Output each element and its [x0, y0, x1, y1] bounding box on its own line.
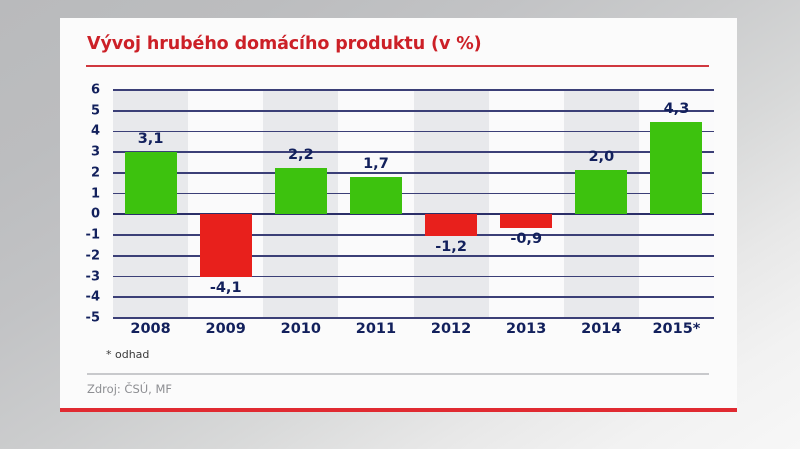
bar[interactable]: [275, 168, 327, 215]
x-tick-label: 2010: [263, 321, 338, 347]
x-tick-label: 2015*: [639, 321, 714, 347]
bar-slot: 3,1: [113, 90, 188, 318]
y-tick-label: -2: [86, 248, 100, 263]
bar[interactable]: [125, 152, 177, 214]
bar-value-label: 4,3: [664, 101, 690, 117]
bar-slot: 2,0: [564, 90, 639, 318]
bar-value-label: 1,7: [363, 156, 389, 172]
y-tick-label: -4: [86, 290, 100, 305]
bar[interactable]: [200, 214, 252, 276]
plot-area: 3,1-4,12,21,7-1,2-0,92,04,3: [113, 90, 714, 318]
bar-slot: -4,1: [188, 90, 263, 318]
x-tick-label: 2009: [188, 321, 263, 347]
bar-slot: 2,2: [263, 90, 338, 318]
chart-figure: 6543210-1-2-3-4-5 3,1-4,12,21,7-1,2-0,92…: [60, 18, 737, 410]
slide-card: Vývoj hrubého domácího produktu (v %) 65…: [60, 18, 737, 410]
bar-slot: -0,9: [489, 90, 564, 318]
source-divider: [87, 373, 709, 375]
y-tick-label: 1: [91, 186, 100, 201]
bar[interactable]: [425, 214, 477, 236]
bar-value-label: 2,0: [588, 149, 614, 165]
bar-value-label: -0,9: [510, 231, 542, 247]
y-axis: 6543210-1-2-3-4-5: [60, 90, 108, 318]
bar[interactable]: [575, 170, 627, 215]
bar-slot: 4,3: [639, 90, 714, 318]
y-tick-label: 5: [91, 103, 100, 118]
bar[interactable]: [500, 214, 552, 227]
bar-value-label: 2,2: [288, 147, 314, 163]
y-tick-label: -3: [86, 269, 100, 284]
x-tick-label: 2013: [489, 321, 564, 347]
x-axis: 20082009201020112012201320142015*: [113, 321, 714, 347]
y-tick-label: 0: [91, 207, 100, 222]
bar[interactable]: [650, 122, 702, 214]
y-tick-label: 4: [91, 124, 100, 139]
card-bottom-accent-bar: [60, 408, 737, 412]
bar-value-label: -1,2: [435, 239, 467, 255]
bar-value-label: 3,1: [138, 131, 164, 147]
y-tick-label: 2: [91, 165, 100, 180]
footnote: * odhad: [106, 348, 149, 361]
x-tick-label: 2008: [113, 321, 188, 347]
bar[interactable]: [350, 177, 402, 214]
bar-series: 3,1-4,12,21,7-1,2-0,92,04,3: [113, 90, 714, 318]
y-tick-label: -1: [86, 228, 100, 243]
x-tick-label: 2012: [414, 321, 489, 347]
y-tick-label: -5: [86, 311, 100, 326]
y-tick-label: 6: [91, 83, 100, 98]
x-tick-label: 2014: [564, 321, 639, 347]
y-tick-label: 3: [91, 145, 100, 160]
bar-value-label: -4,1: [210, 280, 242, 296]
bar-slot: 1,7: [338, 90, 413, 318]
bar-slot: -1,2: [414, 90, 489, 318]
source-label: Zdroj: ČSÚ, MF: [87, 382, 172, 396]
x-tick-label: 2011: [338, 321, 413, 347]
